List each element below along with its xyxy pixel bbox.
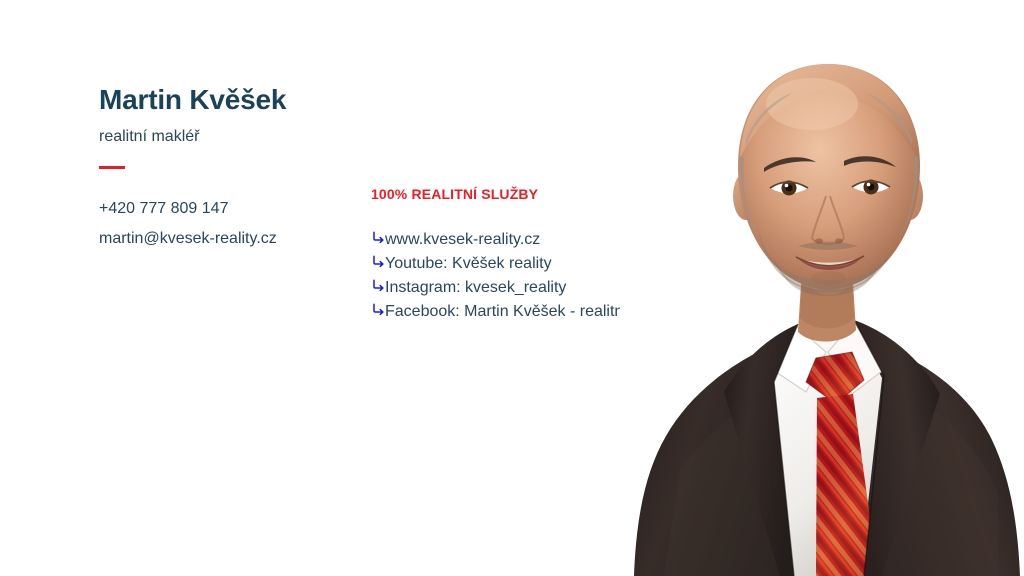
link-label: Youtube: Kvěšek reality — [385, 252, 552, 276]
link-label: www.kvesek-reality.cz — [385, 228, 540, 252]
contact-list: +420 777 809 147 martin@kvesek-reality.c… — [99, 194, 379, 254]
page-title: Martin Kvěšek — [99, 84, 379, 115]
hook-arrow-icon — [371, 303, 385, 317]
business-card-slide: Martin Kvěšek realitní makléř +420 777 8… — [0, 0, 1024, 576]
link-label: Instagram: kvesek_reality — [385, 276, 566, 300]
red-divider — [99, 166, 125, 169]
hook-arrow-icon — [371, 255, 385, 269]
agent-portrait-photo — [620, 0, 1024, 576]
job-title: realitní makléř — [99, 127, 379, 146]
hook-arrow-icon — [371, 279, 385, 293]
email-address[interactable]: martin@kvesek-reality.cz — [99, 224, 379, 254]
hook-arrow-icon — [371, 231, 385, 245]
phone-number[interactable]: +420 777 809 147 — [99, 194, 379, 224]
identity-block: Martin Kvěšek realitní makléř +420 777 8… — [99, 84, 379, 254]
